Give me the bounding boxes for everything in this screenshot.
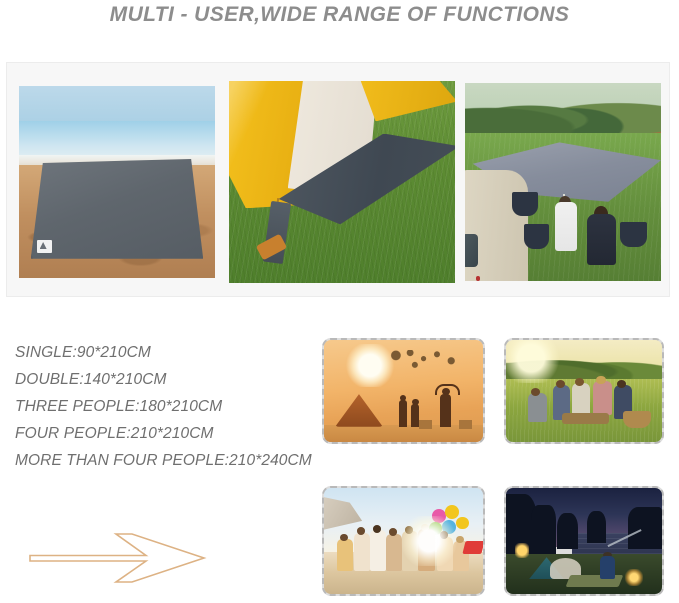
person-figure xyxy=(370,530,386,570)
hero-photo-row xyxy=(7,63,669,296)
thumb-sunset-tent xyxy=(322,338,485,444)
size-list: SINGLE:90*210CM DOUBLE:140*210CM THREE P… xyxy=(15,339,360,474)
sun-glow xyxy=(504,338,562,383)
campfire-glow xyxy=(625,569,644,586)
thumb-image xyxy=(506,340,662,442)
right-arrow-icon xyxy=(28,525,213,585)
size-line-more-people: MORE THAN FOUR PEOPLE:210*240CM xyxy=(15,447,360,474)
thumb-image xyxy=(324,488,483,594)
page-title: MULTI - USER,WIDE RANGE OF FUNCTIONS xyxy=(0,0,679,34)
red-flag xyxy=(462,541,484,554)
thumb-image xyxy=(324,340,483,442)
thumb-field-picnic xyxy=(504,338,664,444)
person-figure xyxy=(528,393,547,422)
photo-beach-tarp xyxy=(19,86,215,278)
birds-flock xyxy=(388,350,468,377)
size-line-single: SINGLE:90*210CM xyxy=(15,339,360,366)
raised-arms xyxy=(435,384,460,395)
person-head xyxy=(575,378,584,386)
tree-silhouette xyxy=(587,511,606,543)
sun-flare xyxy=(397,516,461,567)
person-figure xyxy=(593,381,612,416)
picnic-basket xyxy=(623,411,651,427)
thumb-image xyxy=(506,488,662,594)
person-silhouette xyxy=(399,400,407,427)
camp-stool xyxy=(459,420,472,429)
tree-silhouette xyxy=(557,513,577,549)
person-silhouette xyxy=(440,394,451,427)
car-taillight xyxy=(476,276,479,281)
picnic-table xyxy=(562,413,609,423)
person-figure xyxy=(600,556,616,579)
person-head xyxy=(400,395,406,401)
thumb-night-camp xyxy=(504,486,664,596)
person-silhouette xyxy=(411,404,419,426)
tree-silhouette xyxy=(531,505,556,556)
person-head xyxy=(389,528,397,535)
adult-figure xyxy=(587,214,616,265)
child-figure xyxy=(555,202,577,252)
car-window xyxy=(465,234,478,266)
brand-logo-patch xyxy=(37,240,52,253)
product-infographic: MULTI - USER,WIDE RANGE OF FUNCTIONS xyxy=(0,0,679,603)
person-head xyxy=(340,534,348,541)
gray-tarp xyxy=(31,159,203,259)
person-figure xyxy=(354,533,370,571)
tree-silhouette xyxy=(628,507,662,549)
car-body xyxy=(465,170,528,281)
size-line-four-people: FOUR PEOPLE:210*210CM xyxy=(15,420,360,447)
person-head xyxy=(373,525,381,532)
thumb-beach-party xyxy=(322,486,485,596)
camp-chair xyxy=(512,192,537,216)
person-head xyxy=(556,380,565,388)
size-line-three-people: THREE PEOPLE:180*210CM xyxy=(15,393,360,420)
lantern-light xyxy=(515,543,529,558)
camp-stool xyxy=(419,420,432,429)
photo-tent-footprint xyxy=(229,81,455,283)
camp-chair xyxy=(524,224,549,250)
size-line-double: DOUBLE:140*210CM xyxy=(15,366,360,393)
camp-chair xyxy=(620,222,647,248)
person-head xyxy=(357,527,365,534)
person-head xyxy=(596,376,605,384)
person-head xyxy=(617,380,626,388)
photo-car-awning xyxy=(465,83,661,281)
ground-mat xyxy=(566,575,624,587)
hero-photo-panel xyxy=(6,62,670,297)
person-figure xyxy=(337,539,353,571)
person-head xyxy=(412,399,418,405)
right-arrow-graphic xyxy=(28,525,213,585)
